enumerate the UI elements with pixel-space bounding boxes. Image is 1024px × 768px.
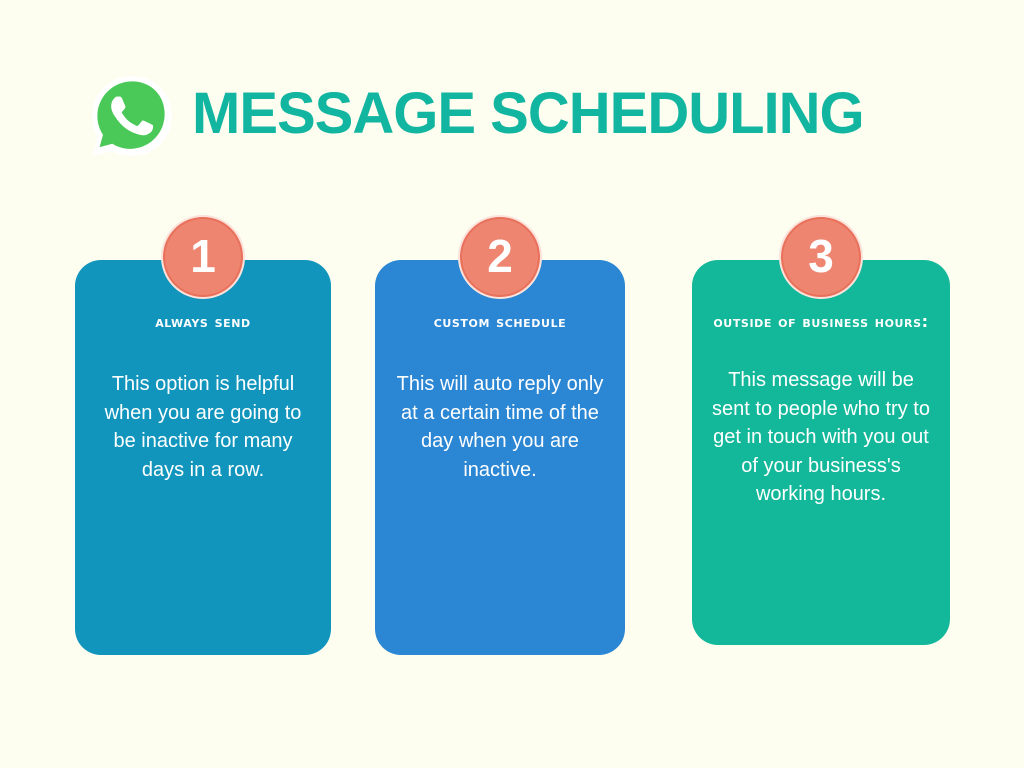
card-heading: OUTSIDE OF BUSINESS HOURS: (710, 312, 932, 332)
step-badge-3: 3 (779, 215, 863, 299)
step-badge-2: 2 (458, 215, 542, 299)
step-number: 2 (487, 233, 513, 279)
card-heading: ALWAYS SEND (93, 312, 313, 332)
card-description: This will auto reply only at a certain t… (393, 370, 607, 484)
card-body-outside-business-hours: OUTSIDE OF BUSINESS HOURS: This message … (692, 260, 950, 645)
whatsapp-icon (88, 72, 176, 160)
step-number: 3 (808, 233, 834, 279)
step-number: 1 (190, 233, 216, 279)
card-body-always-send: ALWAYS SEND This option is helpful when … (75, 260, 331, 655)
page-title: MESSAGE SCHEDULING (192, 85, 864, 147)
card-description: This option is helpful when you are goin… (93, 370, 313, 484)
step-badge-1: 1 (161, 215, 245, 299)
card-body-custom-schedule: CUSTOM SCHEDULE This will auto reply onl… (375, 260, 625, 655)
card-heading: CUSTOM SCHEDULE (393, 312, 607, 332)
cards-row: ALWAYS SEND This option is helpful when … (0, 215, 1024, 675)
page-header: MESSAGE SCHEDULING (88, 72, 864, 160)
card-description: This message will be sent to people who … (710, 366, 932, 508)
